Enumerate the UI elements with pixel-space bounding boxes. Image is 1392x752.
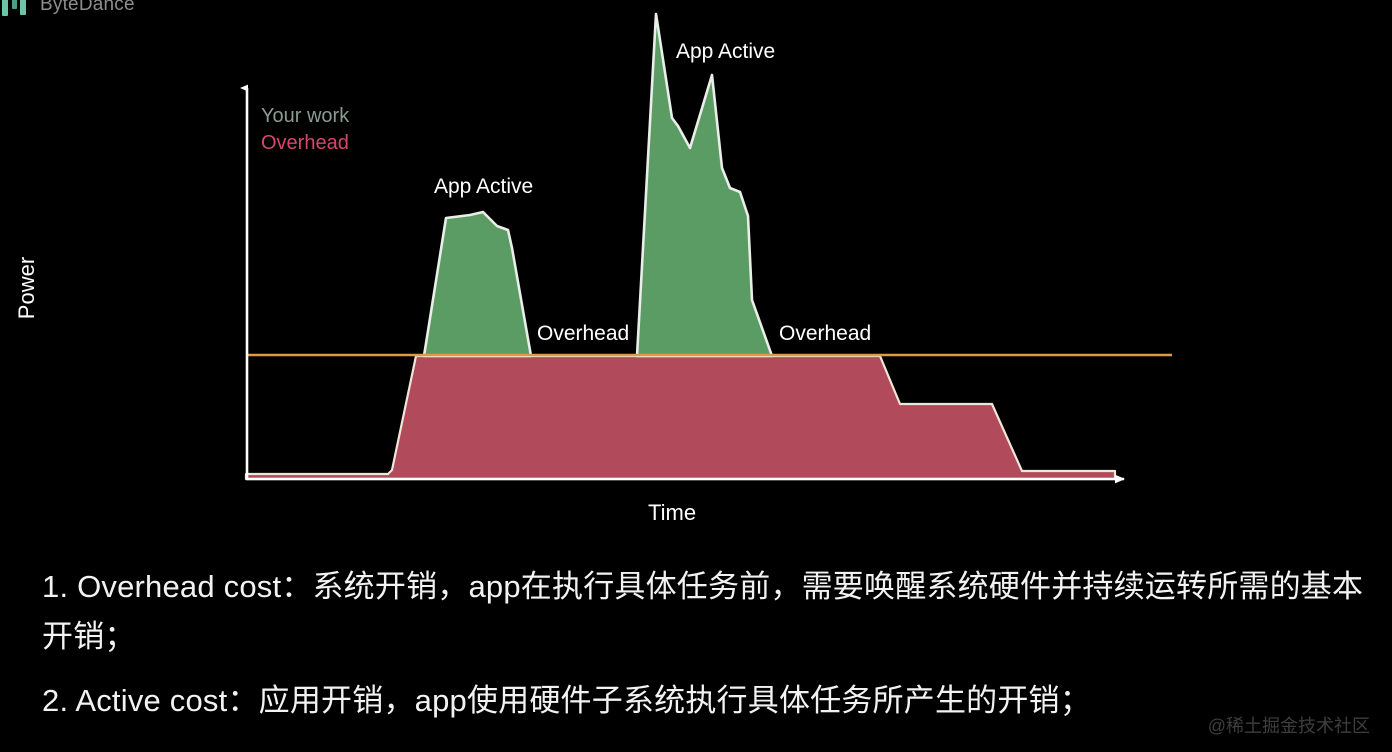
- x-axis-title: Time: [648, 500, 696, 526]
- note-item-1: 1. Overhead cost：系统开销，app在执行具体任务前，需要唤醒系统…: [42, 562, 1372, 662]
- app-active-area-1: [424, 212, 531, 356]
- power-over-time-chart: Power Time Your work Overhead App Active…: [0, 0, 1392, 545]
- notes-spacer: [42, 662, 1372, 676]
- annotation-overhead-2: Overhead: [779, 322, 871, 346]
- annotation-app-active-1: App Active: [434, 175, 533, 199]
- notes-block: 1. Overhead cost：系统开销，app在执行具体任务前，需要唤醒系统…: [42, 562, 1372, 726]
- legend-item-overhead: Overhead: [261, 130, 349, 157]
- note-item-2: 2. Active cost：应用开销，app使用硬件子系统执行具体任务所产生的…: [42, 676, 1372, 726]
- annotation-app-active-2: App Active: [676, 40, 775, 64]
- chart-canvas: [0, 0, 1392, 545]
- app-active-area-2: [637, 14, 772, 356]
- watermark: @稀土掘金技术社区: [1208, 712, 1370, 738]
- y-axis-title: Power: [14, 238, 40, 338]
- slide-stage: ByteDance Power: [0, 0, 1392, 752]
- chart-legend: Your work Overhead: [261, 103, 349, 157]
- annotation-overhead-1: Overhead: [537, 322, 629, 346]
- legend-item-your-work: Your work: [261, 103, 349, 130]
- overhead-area: [246, 356, 1115, 479]
